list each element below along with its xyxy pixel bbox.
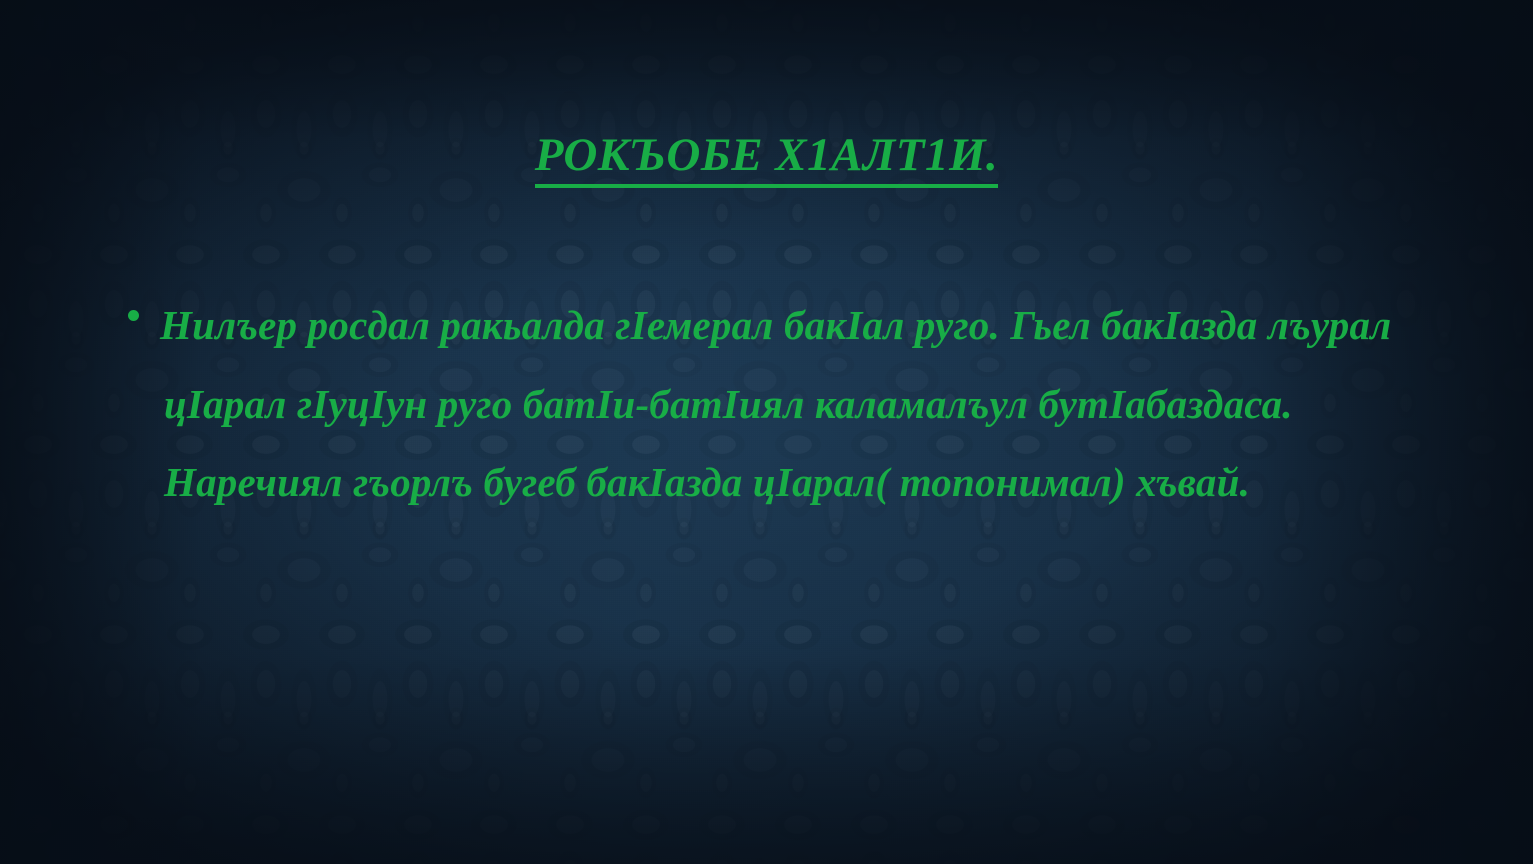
presentation-slide: РОКЪОБЕ Х1АЛТ1И. Нилъер росдал ракьалда …: [0, 0, 1533, 864]
bullet-dot-icon: [128, 286, 160, 321]
slide-body: Нилъер росдал ракьалда гIемерал бакIал р…: [128, 286, 1396, 522]
bullet-text: Нилъер росдал ракьалда гIемерал бакIал р…: [160, 286, 1396, 522]
slide-content: РОКЪОБЕ Х1АЛТ1И. Нилъер росдал ракьалда …: [0, 0, 1533, 864]
list-item: Нилъер росдал ракьалда гIемерал бакIал р…: [128, 286, 1396, 522]
slide-title: РОКЪОБЕ Х1АЛТ1И.: [0, 128, 1533, 188]
slide-title-text: РОКЪОБЕ Х1АЛТ1И.: [535, 130, 999, 188]
